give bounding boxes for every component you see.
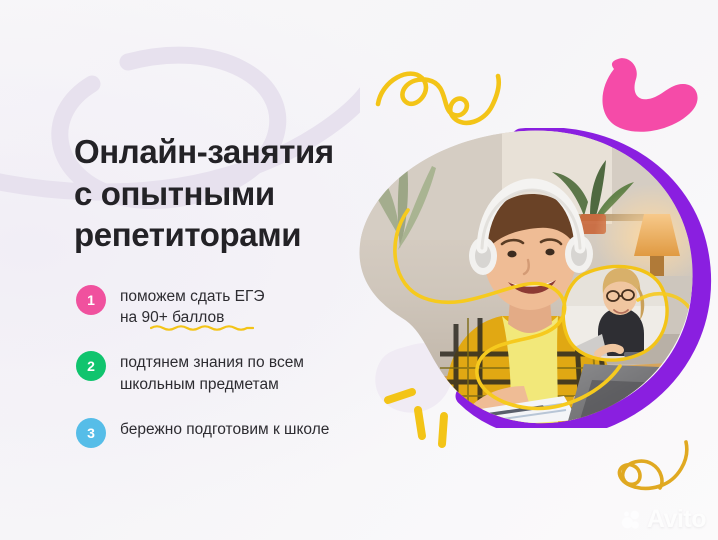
benefit-text-2: подтянем знания по всем школьным предмет… [120,350,304,394]
benefit-text-1: поможем сдать ЕГЭ на 90+ баллов [120,284,265,328]
benefit-text-3: бережно подготовим к школе [120,417,329,440]
page-title: Онлайн-занятия с опытными репетиторами [74,131,364,256]
list-item: 1 поможем сдать ЕГЭ на 90+ баллов [76,284,396,328]
wavy-underline-icon [150,324,254,331]
benefits-list: 1 поможем сдать ЕГЭ на 90+ баллов 2 подт… [76,284,396,448]
avito-logo-icon [621,509,643,531]
avito-wordmark: Avito [647,507,706,532]
list-item: 2 подтянем знания по всем школьным предм… [76,350,396,394]
badge-number-3: 3 [76,418,106,448]
avito-watermark: Avito [621,507,706,532]
badge-number-2: 2 [76,351,106,381]
student-photo [352,128,718,428]
banner-canvas: Онлайн-занятия с опытными репетиторами 1… [0,0,718,540]
badge-number-1: 1 [76,285,106,315]
list-item: 3 бережно подготовим к школе [76,417,396,448]
photo-content [352,128,718,428]
